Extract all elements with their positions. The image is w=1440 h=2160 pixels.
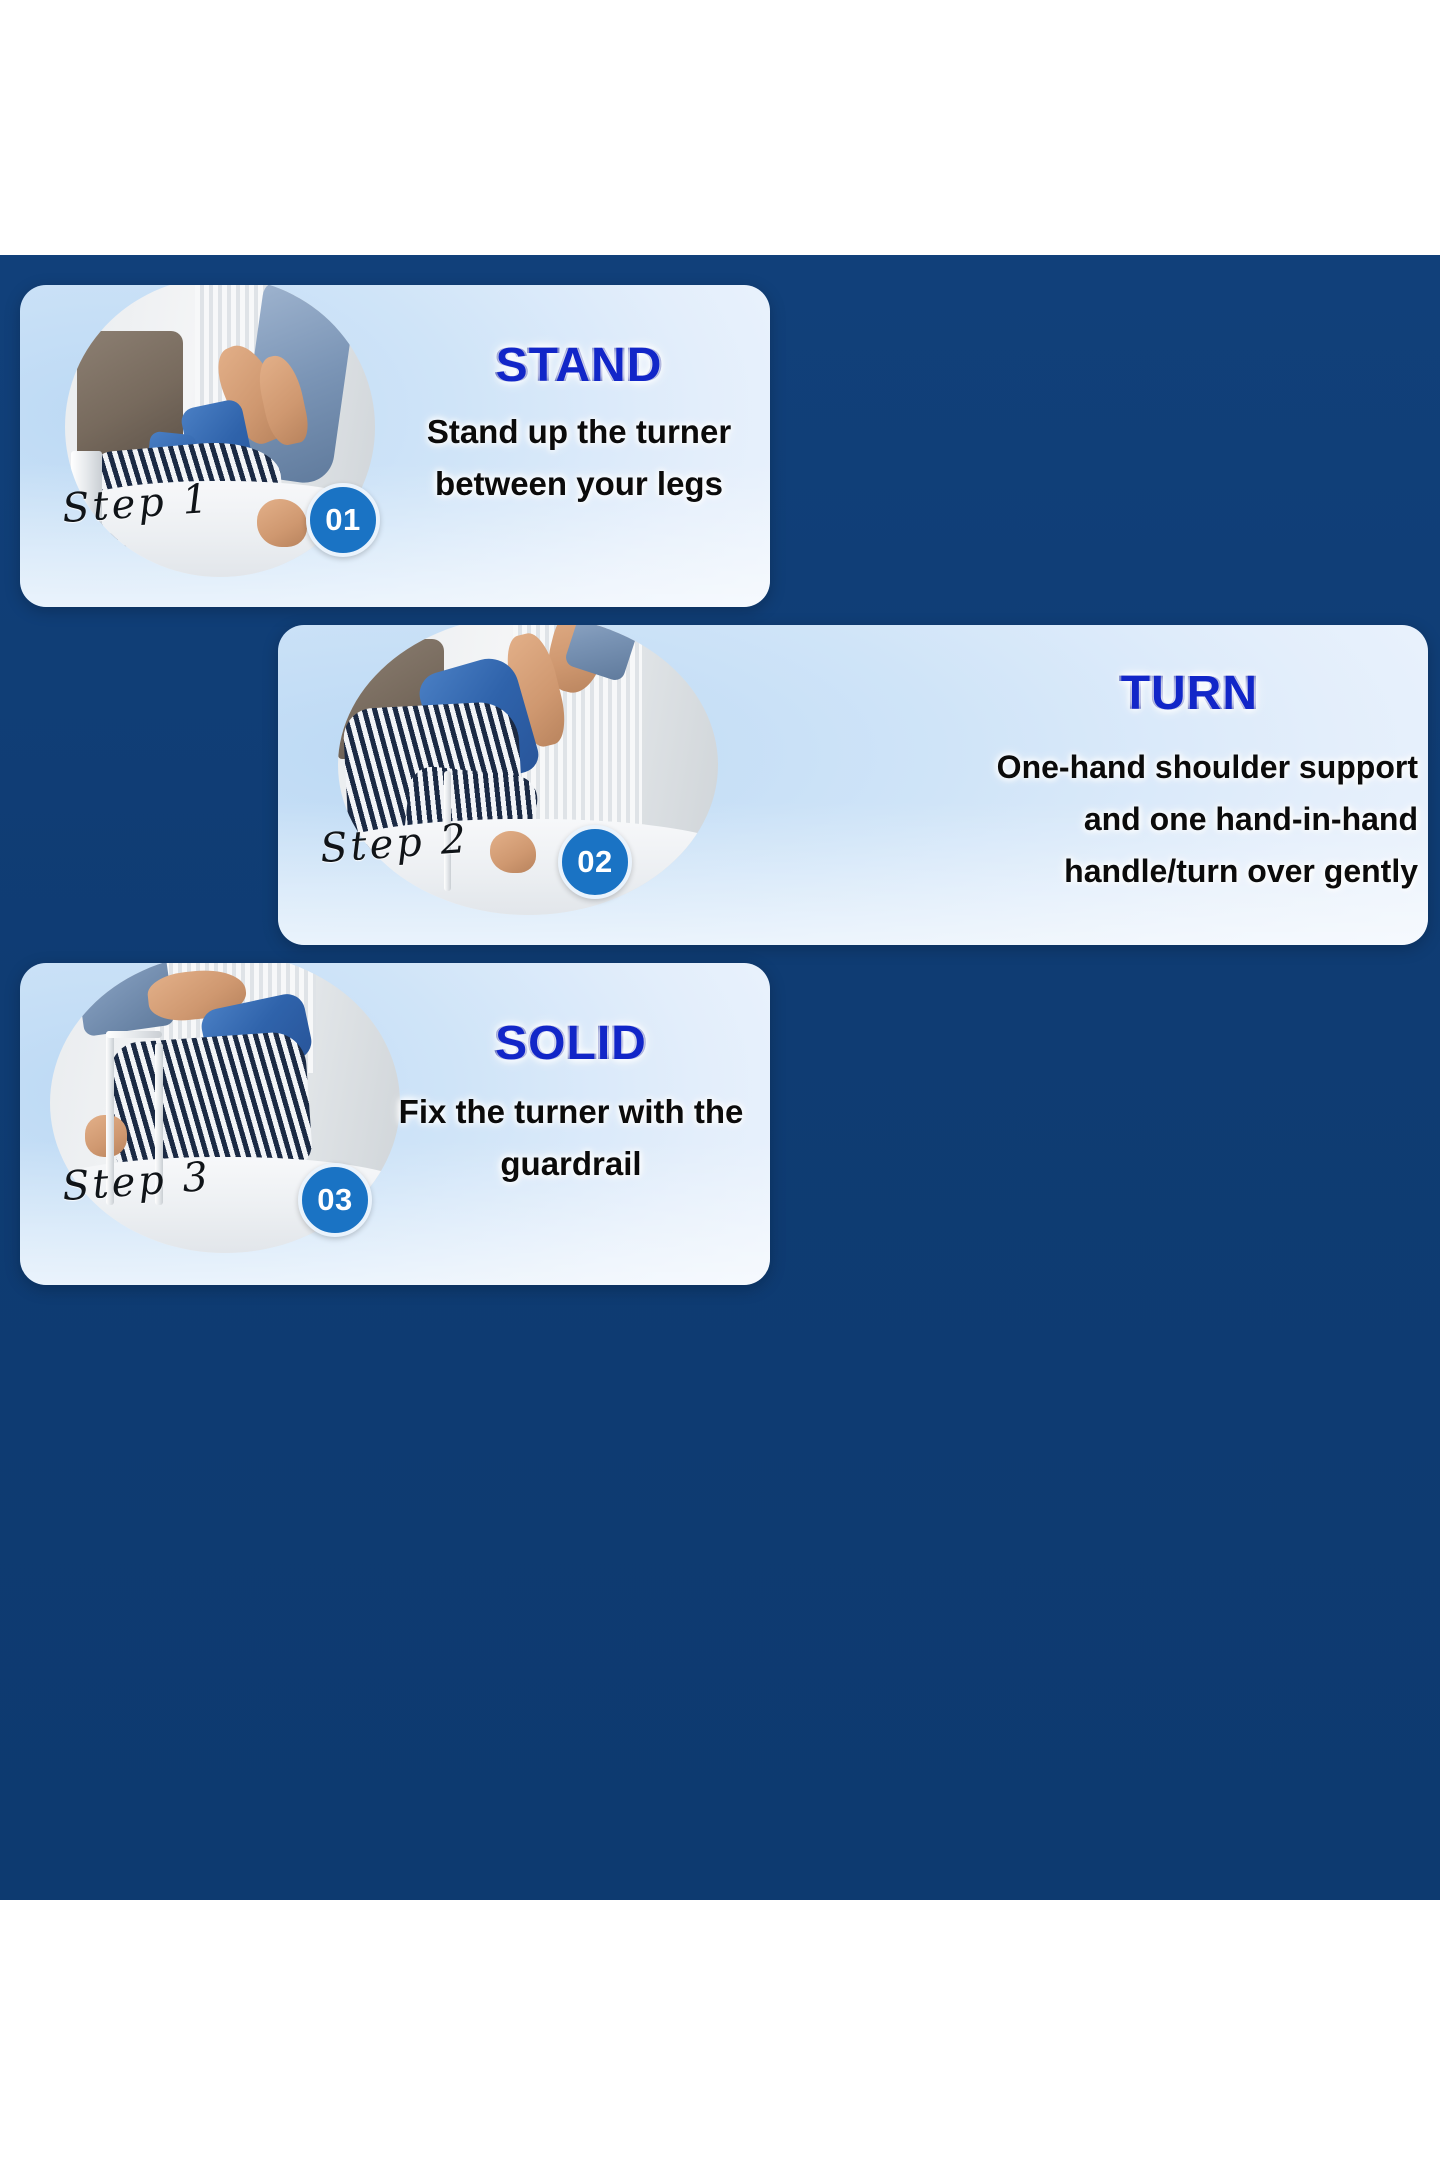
step-2-body-line-1: One-hand shoulder support [638, 742, 1418, 794]
step-2-number-badge: 02 [558, 825, 632, 899]
step-1-number: 01 [325, 502, 360, 538]
step-card-1: Step 1 01 STAND Stand up the turner betw… [20, 285, 770, 607]
step-3-body-line-1: Fix the turner with the [380, 1086, 762, 1138]
step-1-body-line-2: between your legs [398, 458, 760, 510]
step-2-body: One-hand shoulder support and one hand-i… [638, 742, 1418, 897]
step-2-body-line-3: handle/turn over gently [638, 846, 1418, 898]
step-2-number: 02 [577, 844, 612, 880]
step-3-text-column: SOLID Fix the turner with the guardrail [380, 1019, 762, 1190]
step-3-heading: SOLID [380, 1019, 762, 1070]
step-3-body: Fix the turner with the guardrail [380, 1086, 762, 1190]
step-3-number-badge: 03 [298, 1163, 372, 1237]
step-1-body-line-1: Stand up the turner [398, 406, 760, 458]
step-1-heading: STAND [398, 341, 760, 392]
step-card-3: Step 3 03 SOLID Fix the turner with the … [20, 963, 770, 1285]
step-1-text-column: STAND Stand up the turner between your l… [398, 341, 760, 510]
step-card-2: Step 2 02 TURN One-hand shoulder support… [278, 625, 1428, 945]
step-1-body: Stand up the turner between your legs [398, 406, 760, 510]
step-2-heading: TURN [638, 669, 1418, 720]
step-2-body-line-2: and one hand-in-hand [638, 794, 1418, 846]
step-2-text-column: TURN One-hand shoulder support and one h… [638, 669, 1418, 897]
step-3-body-line-2: guardrail [380, 1138, 762, 1190]
infographic-page: Step 1 01 STAND Stand up the turner betw… [0, 0, 1440, 2160]
step-3-number: 03 [317, 1182, 352, 1218]
step-1-number-badge: 01 [306, 483, 380, 557]
